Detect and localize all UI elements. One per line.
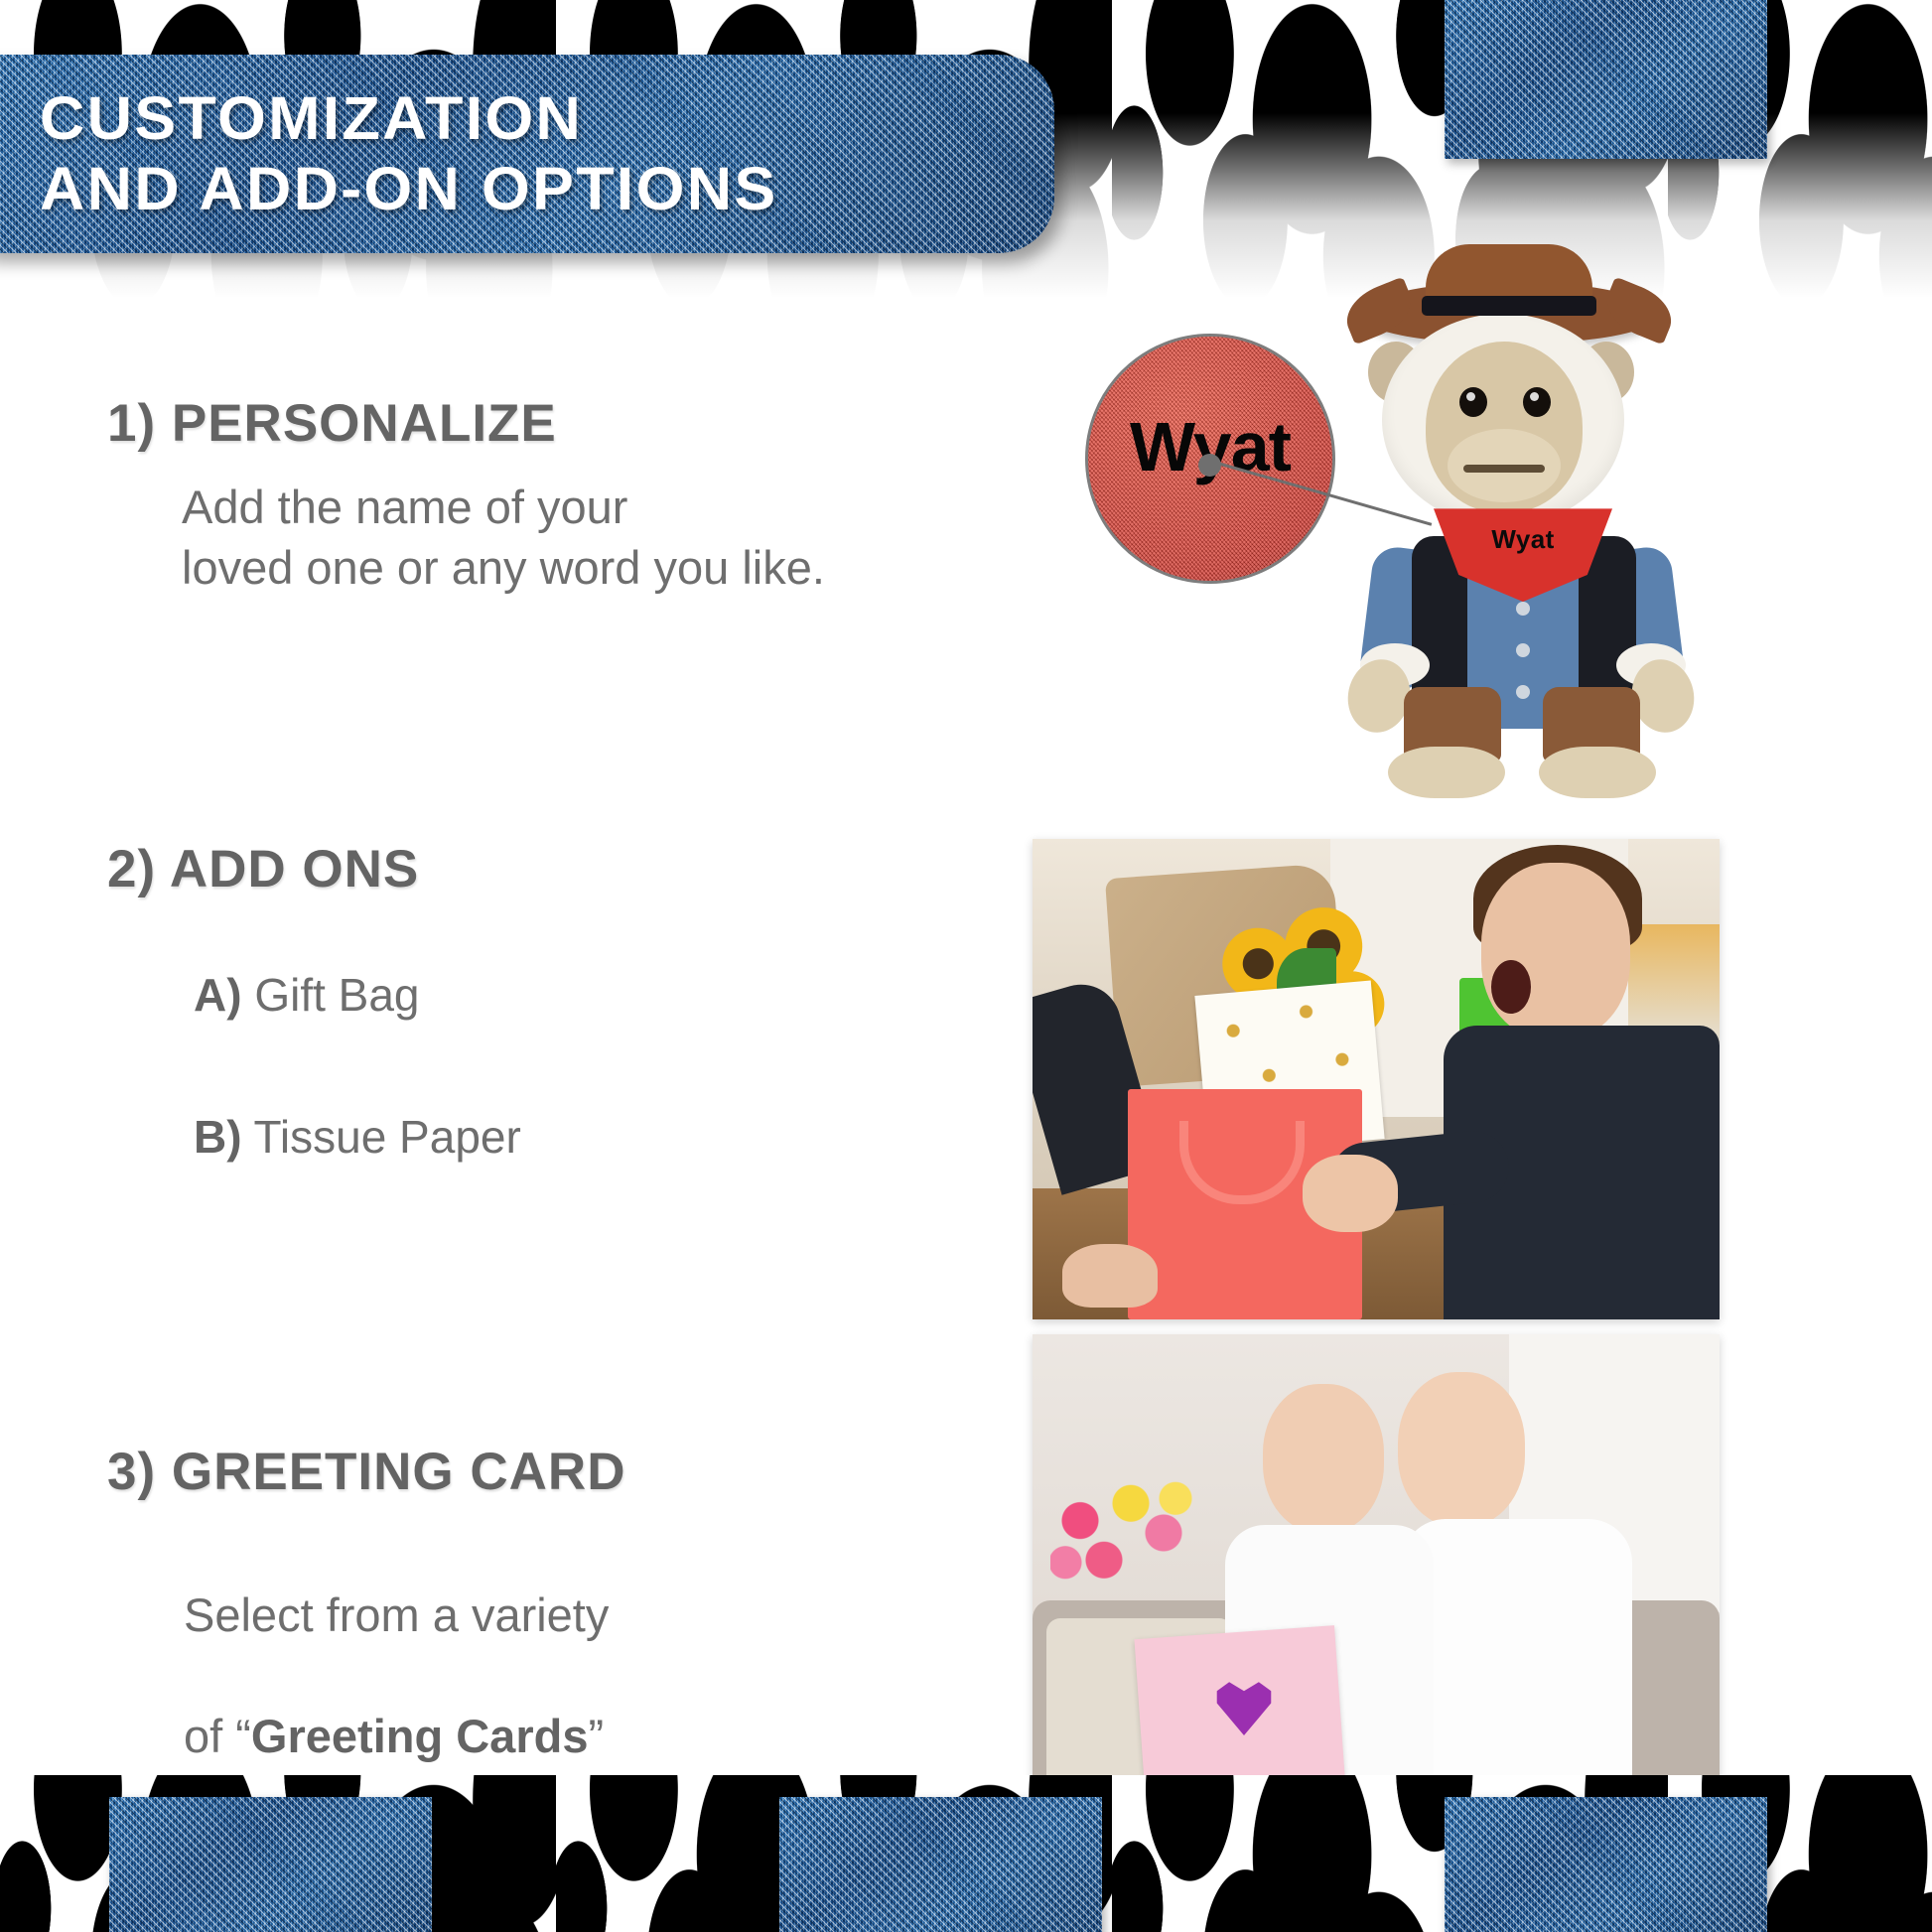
step-3-heading: 3) GREETING CARD: [107, 1442, 625, 1502]
shirt-button-3: [1516, 685, 1530, 699]
step-3-quote-open: of “: [184, 1710, 251, 1762]
callout-anchor-dot: [1198, 454, 1221, 477]
plush-toy-product-image: Wyat: [1309, 238, 1725, 675]
gift-bag-photo: [1033, 839, 1720, 1319]
bandana-personalized-name: Wyat: [1434, 524, 1612, 555]
monkey-eye-right: [1523, 387, 1551, 417]
bottom-border-band: [0, 1775, 1932, 1932]
greetingcard-tulip-bouquet: [1050, 1471, 1199, 1594]
addon-option-a: A) Gift Bag: [194, 968, 420, 1022]
addon-option-a-letter: A): [194, 969, 242, 1021]
plush-foot-right: [1539, 747, 1656, 798]
step-1-body: Add the name of your loved one or any wo…: [182, 477, 825, 598]
giftbag-giver-hand: [1062, 1244, 1158, 1308]
denim-tile-bottom-1: [109, 1797, 432, 1932]
step-3-body-line-1: Select from a variety: [184, 1585, 609, 1645]
denim-tile-top: [1445, 0, 1767, 159]
greetingcard-mother-head: [1398, 1372, 1525, 1527]
step-2-heading: 2) ADD ONS: [107, 839, 419, 899]
addon-option-b: B) Tissue Paper: [194, 1110, 521, 1164]
greetingcard-mother-shirt: [1402, 1519, 1632, 1797]
monkey-mouth: [1463, 465, 1545, 473]
banner-title-line-2: AND ADD-ON OPTIONS: [40, 154, 1054, 224]
step-1-heading: 1) PERSONALIZE: [107, 393, 557, 454]
monkey-eye-left: [1459, 387, 1487, 417]
step-3-quote-close: ”: [588, 1710, 604, 1762]
addon-option-b-letter: B): [194, 1111, 242, 1163]
plush-foot-left: [1388, 747, 1505, 798]
denim-tile-bottom-2: [779, 1797, 1102, 1932]
cowboy-hat-band: [1422, 296, 1596, 316]
greeting-card-photo: [1033, 1334, 1720, 1797]
addon-option-b-label: Tissue Paper: [254, 1111, 521, 1163]
infographic-page: CUSTOMIZATION AND ADD-ON OPTIONS 1) PERS…: [0, 0, 1932, 1932]
denim-tile-bottom-3: [1445, 1797, 1767, 1932]
banner-title-pill: CUSTOMIZATION AND ADD-ON OPTIONS: [0, 55, 1054, 253]
giftbag-boy-hand: [1303, 1155, 1398, 1232]
addon-option-a-label: Gift Bag: [254, 969, 419, 1021]
shirt-button-1: [1516, 602, 1530, 616]
step-3-body-line-2: of “Greeting Cards”: [184, 1706, 609, 1766]
shirt-button-2: [1516, 643, 1530, 657]
giftbag-boy-head: [1481, 863, 1630, 1039]
greetingcard-girl-head: [1263, 1384, 1384, 1533]
giftbag-boy-open-mouth: [1491, 960, 1531, 1014]
step-3-bold-term: Greeting Cards: [251, 1710, 589, 1762]
banner-title-line-1: CUSTOMIZATION: [40, 83, 1054, 154]
